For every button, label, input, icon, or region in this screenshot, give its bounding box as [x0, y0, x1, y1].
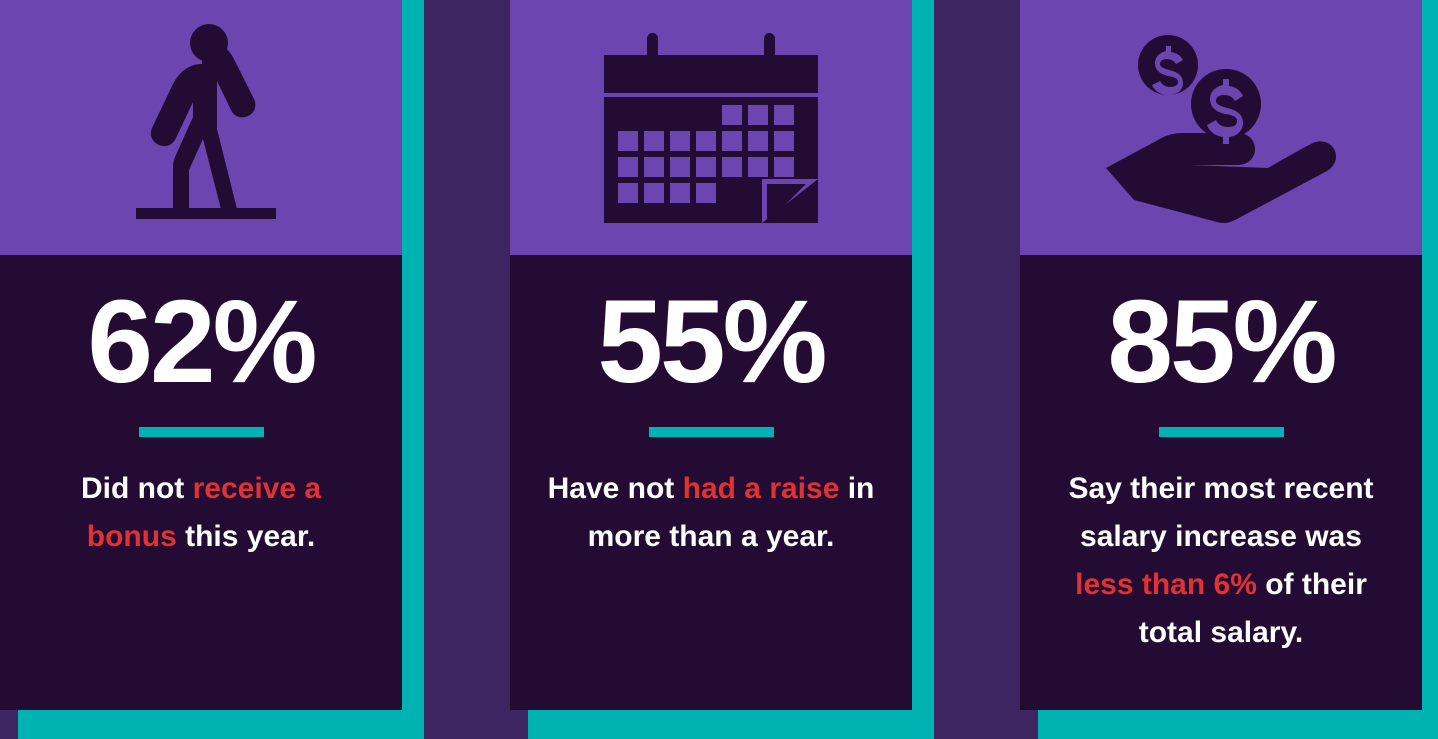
body-panel-3: 85% Say their most recent salary increas… [1020, 255, 1422, 710]
stat-card-3: 85% Say their most recent salary increas… [1020, 0, 1422, 710]
icon-panel-3 [1020, 0, 1422, 255]
bottom-accent-bar-1 [18, 710, 402, 739]
stat-percentage: 55% [597, 283, 824, 401]
bottom-accent-bar-2 [528, 710, 912, 739]
accent-rule [1159, 427, 1284, 437]
body-panel-2: 55% Have not had a raise in more than a … [510, 255, 912, 710]
caption-highlight: less than 6% [1075, 568, 1257, 601]
vertical-accent-stripe-2 [912, 0, 934, 739]
icon-panel-1 [0, 0, 402, 255]
accent-rule [139, 427, 264, 437]
icon-panel-2 [510, 0, 912, 255]
body-panel-1: 62% Did not receive a bonus this year. [0, 255, 402, 710]
stat-card-1: 62% Did not receive a bonus this year. [0, 0, 402, 710]
stat-caption: Have not had a raise in more than a year… [546, 465, 876, 561]
vertical-accent-stripe-1 [402, 0, 424, 739]
caption-text: Did not [81, 472, 193, 505]
caption-text: Have not [548, 472, 683, 505]
stat-percentage: 62% [87, 283, 314, 401]
vertical-accent-stripe-3 [1422, 0, 1438, 739]
caption-text: this year. [177, 520, 315, 553]
stat-caption: Say their most recent salary increase wa… [1056, 465, 1386, 657]
stat-caption: Did not receive a bonus this year. [36, 465, 366, 561]
accent-rule [649, 427, 774, 437]
bottom-accent-bar-3 [1038, 710, 1422, 739]
calendar-icon [604, 33, 818, 223]
infographic-root: 62% Did not receive a bonus this year. [0, 0, 1438, 739]
stat-percentage: 85% [1107, 283, 1334, 401]
caption-highlight: had a raise [683, 472, 840, 505]
hand-with-coins-icon [1106, 28, 1336, 228]
stooped-person-icon [106, 23, 296, 233]
caption-text: Say their most recent salary increase wa… [1068, 472, 1373, 553]
stat-card-2: 55% Have not had a raise in more than a … [510, 0, 912, 710]
